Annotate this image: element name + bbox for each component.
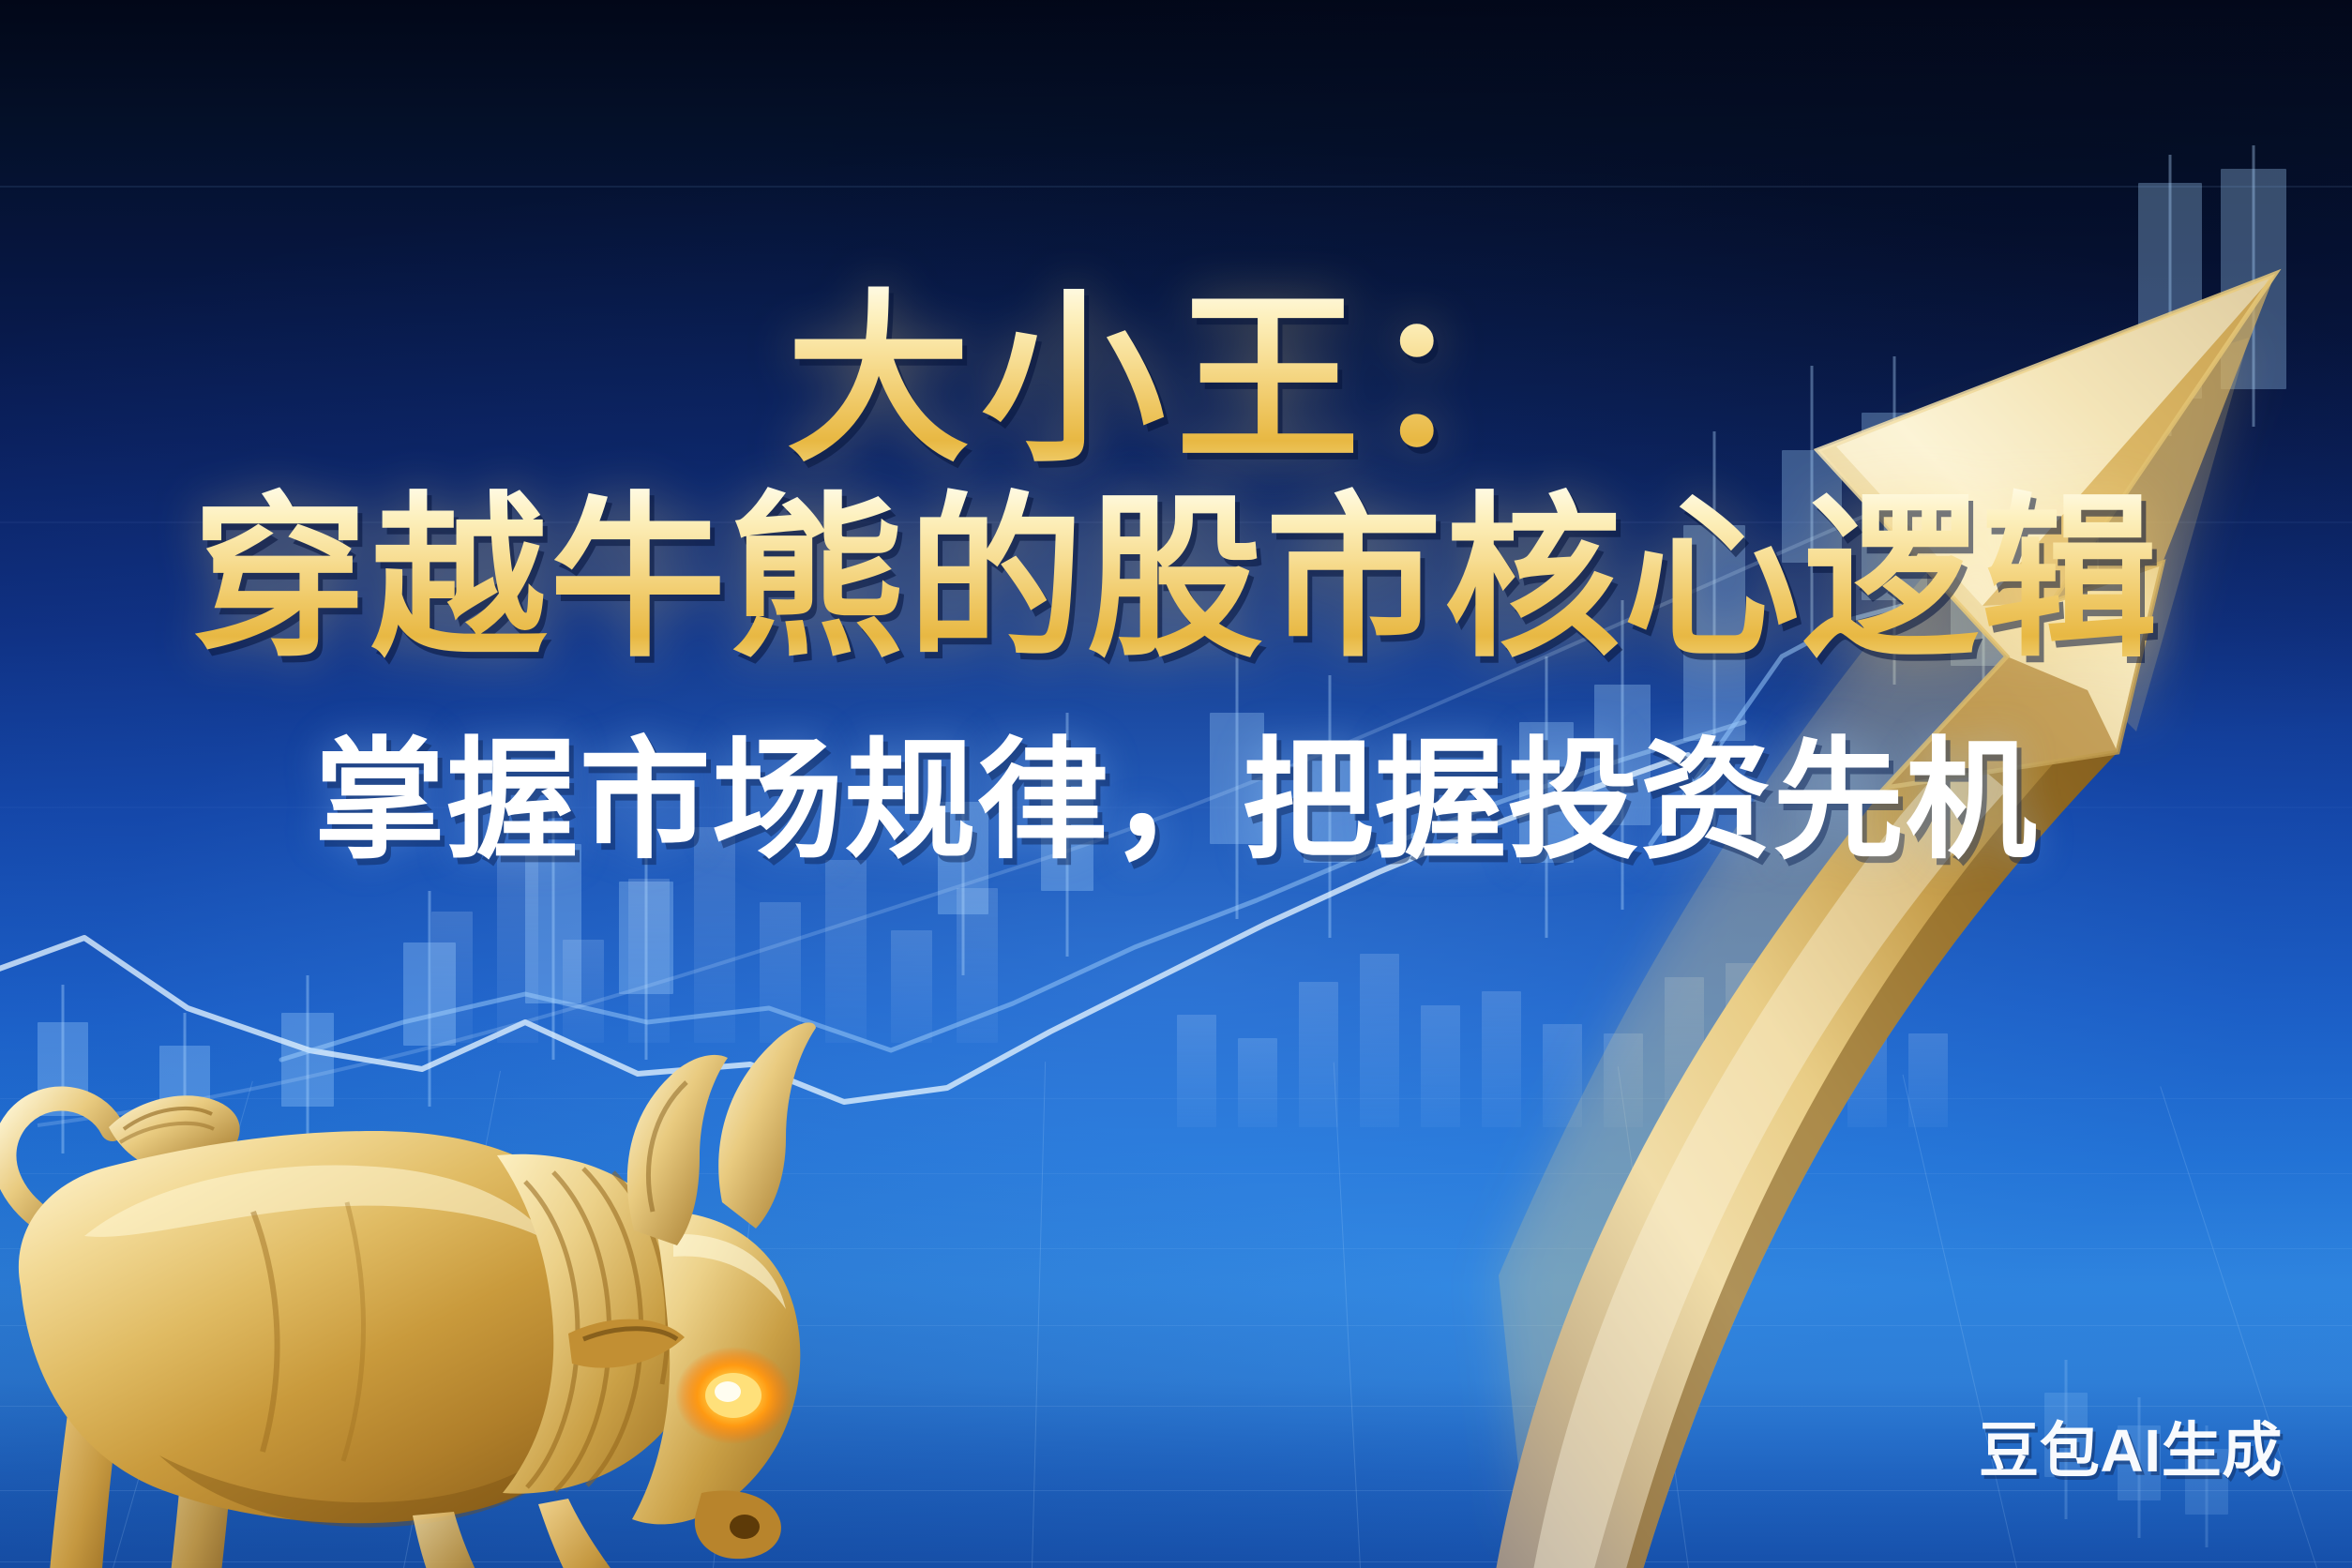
title-line-1: 大小王： — [0, 281, 2352, 480]
poster-canvas: 大小王： 穿越牛熊的股市核心逻辑 掌握市场规律，把握投资先机 豆包AI生成 — [0, 0, 2352, 1568]
bull-horn-right — [718, 1022, 816, 1229]
watermark-label: 豆包AI生成 — [1979, 1403, 2283, 1489]
title-block: 大小王： 穿越牛熊的股市核心逻辑 掌握市场规律，把握投资先机 — [0, 281, 2352, 884]
subtitle: 掌握市场规律，把握投资先机 — [0, 695, 2352, 884]
grid-line-v — [1032, 1062, 1046, 1568]
title-line-2: 穿越牛熊的股市核心逻辑 — [0, 484, 2352, 674]
bull-front-leg-2 — [413, 1512, 493, 1568]
bull-front-leg — [538, 1499, 640, 1568]
bull-horn-left — [627, 1055, 728, 1245]
bull-nostril — [730, 1515, 760, 1539]
golden-bull-statue-icon — [0, 930, 816, 1568]
